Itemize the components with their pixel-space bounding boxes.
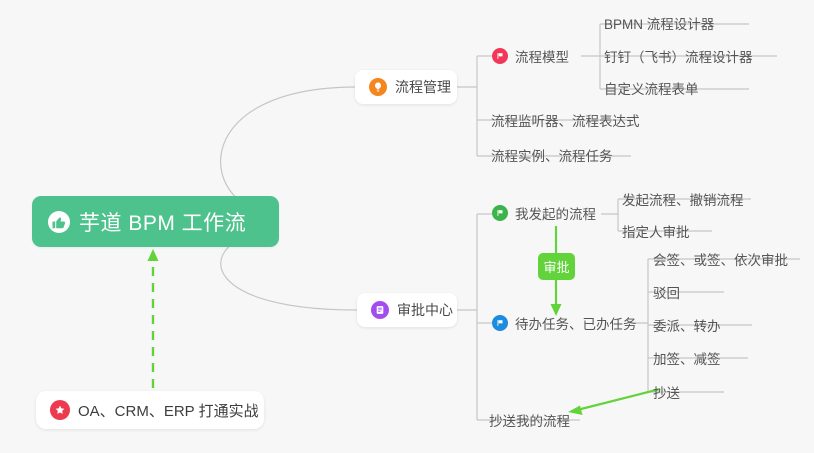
node-label-assignee-approval: 指定人审批 (622, 221, 690, 241)
integration-node[interactable]: OA、CRM、ERP 打通实战 (36, 391, 264, 429)
node-custom-process-form[interactable]: 自定义流程表单 (604, 77, 699, 99)
branch-node-process-management[interactable]: 流程管理 (355, 70, 457, 104)
node-reject[interactable]: 驳回 (653, 281, 680, 303)
arrow-cc-to-ccmine-head (568, 406, 583, 416)
branch-label-approval-center: 审批中心 (397, 300, 453, 320)
node-label-countersign-orsign-sequential: 会签、或签、依次审批 (653, 249, 788, 269)
node-cc-to-me-process[interactable]: 抄送我的流程 (489, 409, 570, 431)
clipboard-icon (371, 301, 389, 319)
arrow-integration-to-root-head (148, 249, 159, 261)
root-label: 芋道 BPM 工作流 (79, 207, 246, 237)
node-label-my-initiated-process: 我发起的流程 (515, 203, 596, 223)
node-countersign-orsign-sequential[interactable]: 会签、或签、依次审批 (653, 248, 788, 270)
root-node[interactable]: 芋道 BPM 工作流 (32, 196, 279, 247)
node-label-process-instance-task: 流程实例、流程任务 (491, 145, 613, 165)
mindmap-canvas: 芋道 BPM 工作流 流程管理 审批中心 (0, 0, 814, 453)
arrow-cc-to-ccmine (577, 389, 660, 410)
node-process-listener-expression[interactable]: 流程监听器、流程表达式 (491, 109, 640, 131)
node-label-process-listener-expression: 流程监听器、流程表达式 (491, 110, 640, 130)
node-label-cc-to-me-process: 抄送我的流程 (489, 410, 570, 430)
node-dingtalk-feishu-designer[interactable]: 钉钉（飞书）流程设计器 (604, 45, 753, 67)
node-label-add-remove-sign: 加签、减签 (653, 348, 721, 368)
node-assignee-approval[interactable]: 指定人审批 (622, 220, 690, 242)
node-label-todo-done-task: 待办任务、已办任务 (515, 313, 637, 333)
link-root-to-process-management (221, 87, 355, 214)
node-label-dingtalk-feishu-designer: 钉钉（飞书）流程设计器 (604, 46, 753, 66)
node-bpmn-designer[interactable]: BPMN 流程设计器 (604, 12, 714, 34)
blue-flag-icon (492, 315, 508, 331)
node-delegate-transfer[interactable]: 委派、转办 (653, 314, 721, 336)
node-label-start-cancel-process: 发起流程、撤销流程 (622, 189, 744, 209)
node-label-reject: 驳回 (653, 282, 680, 302)
node-my-initiated-process[interactable]: 我发起的流程 (492, 202, 596, 224)
branch-node-approval-center[interactable]: 审批中心 (357, 293, 457, 327)
node-label-custom-process-form: 自定义流程表单 (604, 78, 699, 98)
node-label-delegate-transfer: 委派、转办 (653, 315, 721, 335)
node-process-instance-task[interactable]: 流程实例、流程任务 (491, 144, 613, 166)
node-label-cc: 抄送 (653, 382, 680, 402)
node-label-bpmn-designer: BPMN 流程设计器 (604, 13, 714, 33)
lightbulb-icon (369, 78, 387, 96)
branch-label-process-management: 流程管理 (395, 77, 451, 97)
node-label-process-model: 流程模型 (515, 46, 569, 66)
node-cc[interactable]: 抄送 (653, 381, 680, 403)
red-flag-icon (492, 48, 508, 64)
thumbs-up-icon (48, 211, 70, 233)
green-flag-icon (492, 205, 508, 221)
node-todo-done-task[interactable]: 待办任务、已办任务 (492, 312, 637, 334)
approve-badge: 审批 (538, 253, 575, 280)
approve-badge-label: 审批 (543, 257, 569, 276)
node-process-model[interactable]: 流程模型 (492, 45, 569, 67)
node-start-cancel-process[interactable]: 发起流程、撤销流程 (622, 188, 744, 210)
star-icon (50, 400, 70, 420)
integration-label: OA、CRM、ERP 打通实战 (78, 400, 259, 421)
node-add-remove-sign[interactable]: 加签、减签 (653, 347, 721, 369)
